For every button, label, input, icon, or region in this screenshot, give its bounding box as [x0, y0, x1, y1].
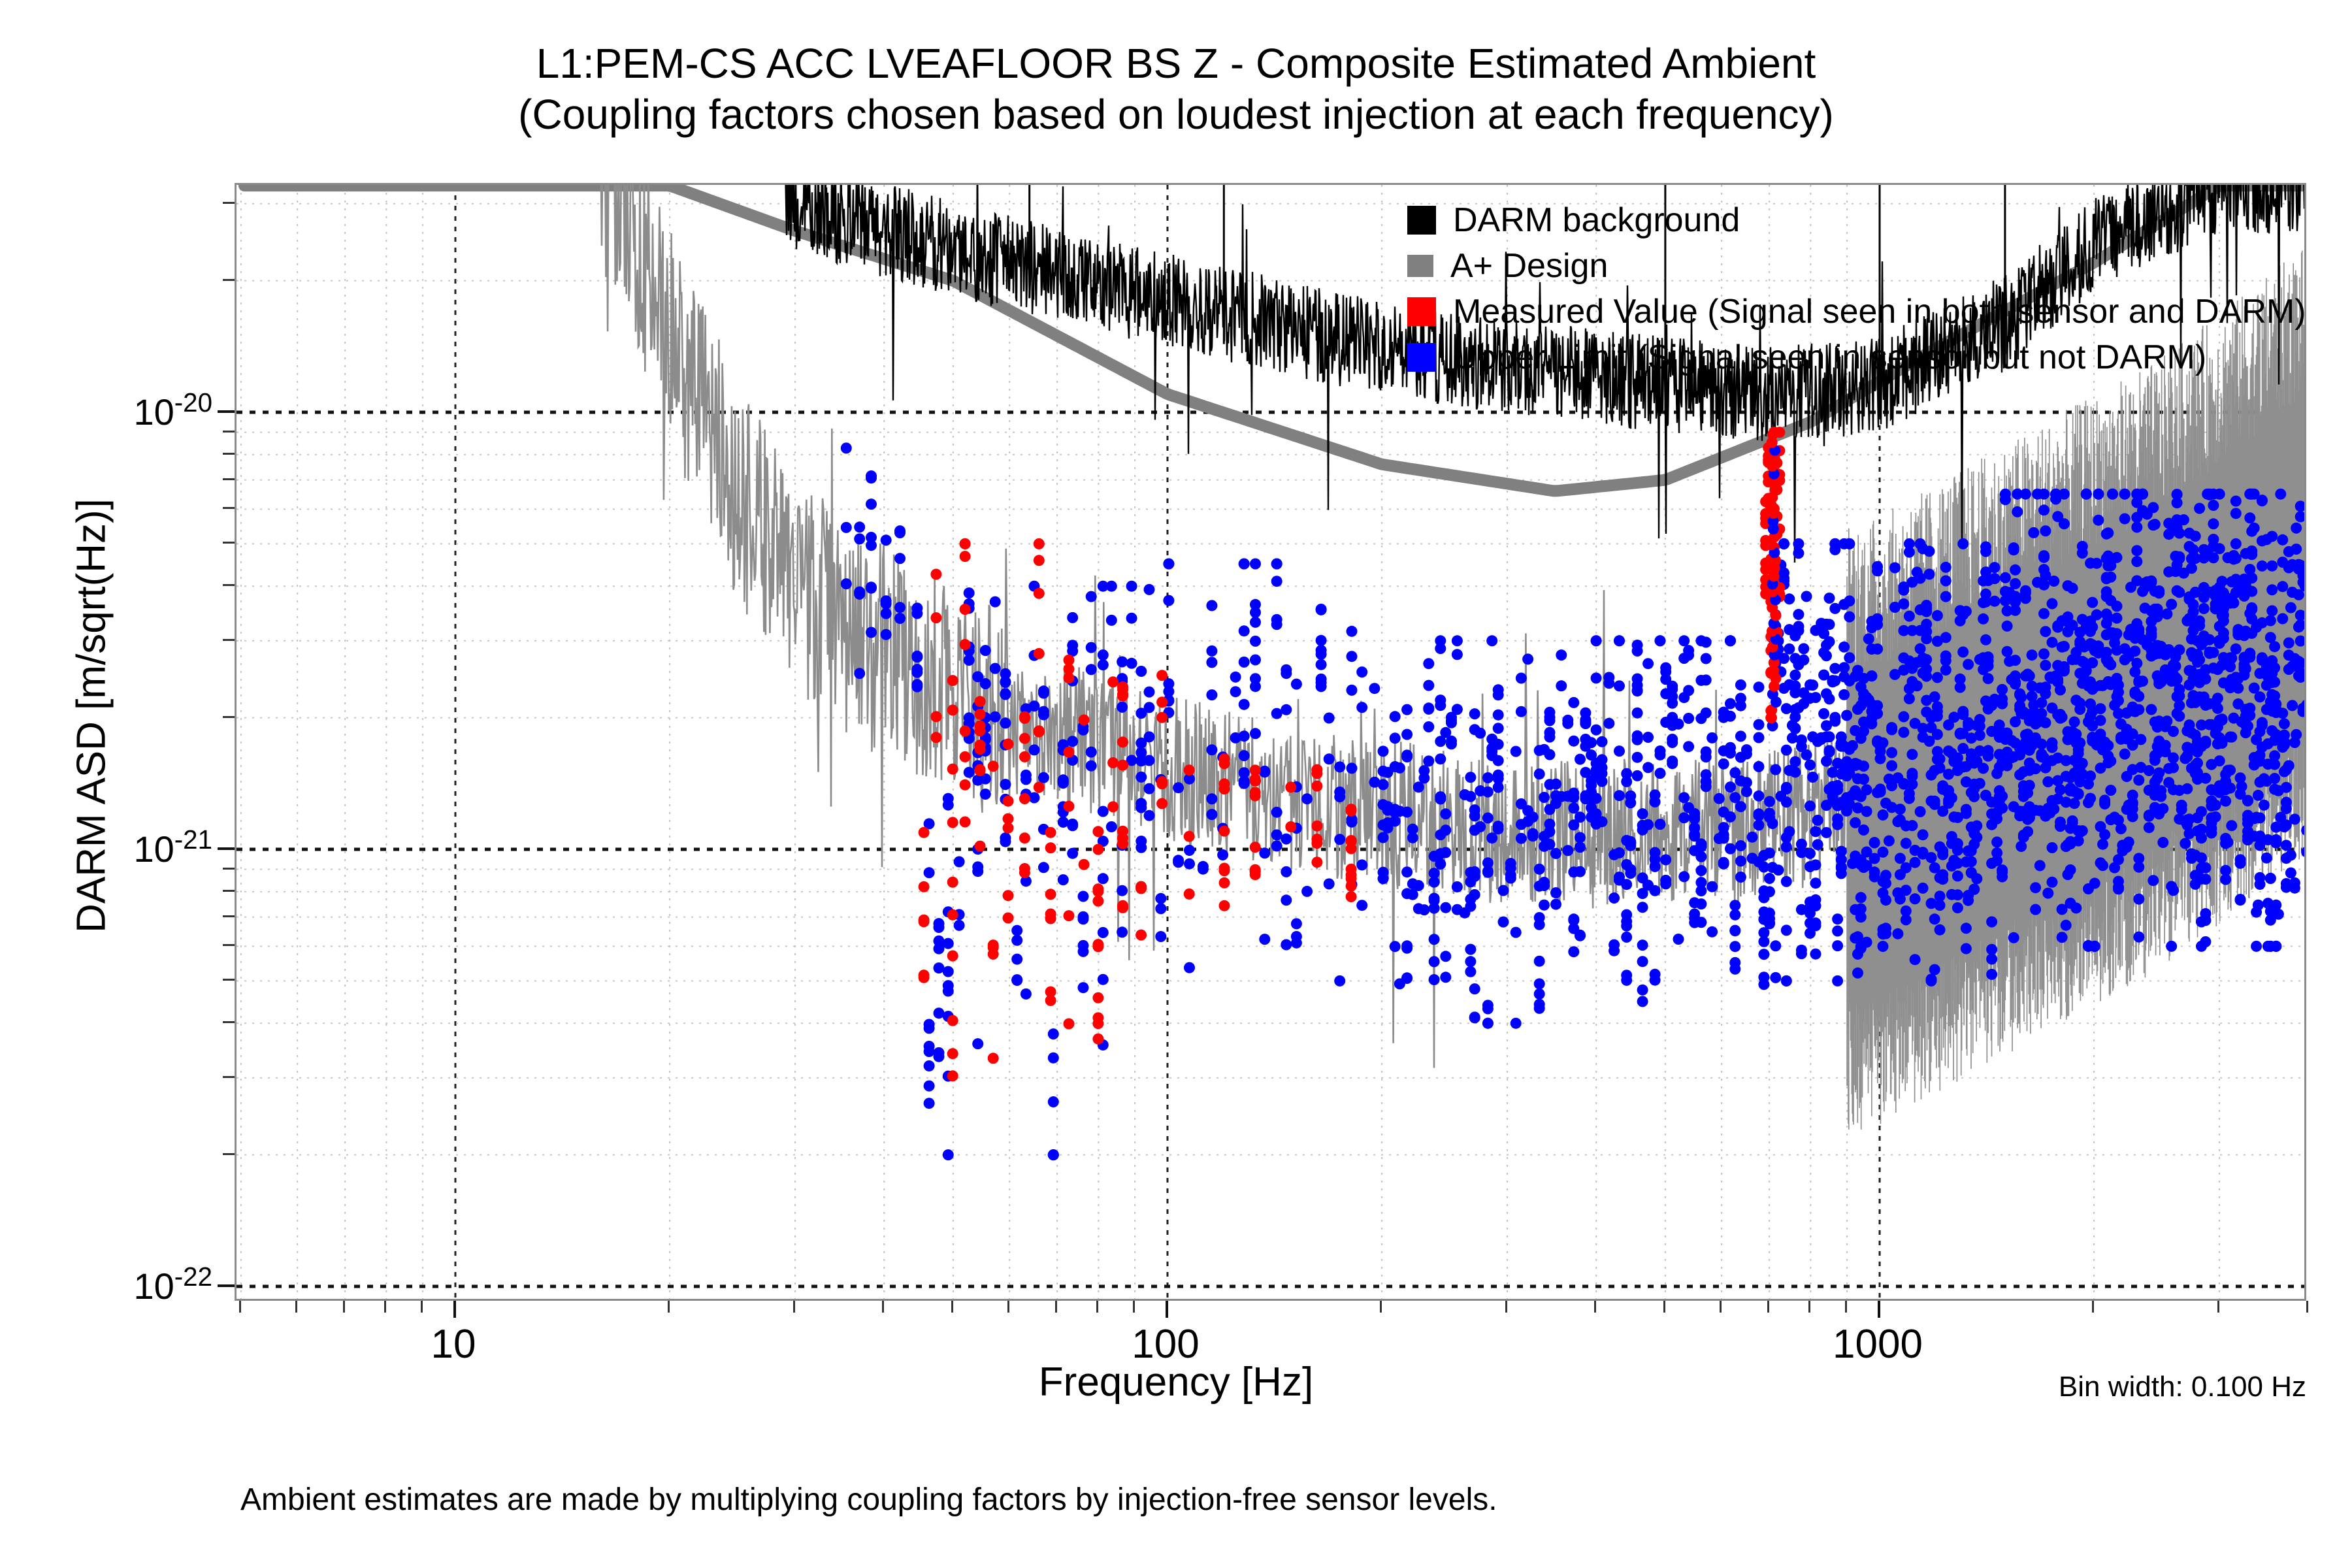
y-axis-title: DARM ASD [m/sqrt(Hz)]: [69, 259, 115, 1173]
y-tick-minor: [223, 915, 235, 917]
y-tick-minor: [223, 1021, 235, 1023]
x-tick-minor: [1663, 1301, 1665, 1313]
x-tick-minor: [1505, 1301, 1507, 1313]
x-tick-major: [453, 1301, 456, 1318]
x-tick-minor: [1133, 1301, 1135, 1313]
x-axis-title: Frequency [Hz]: [0, 1359, 2352, 1405]
y-tick-minor: [223, 584, 235, 586]
chart-title-primary: L1:PEM-CS ACC LVEAFLOOR BS Z - Composite…: [0, 38, 2352, 89]
legend-swatch-icon: [1407, 343, 1436, 372]
x-tick-minor: [1845, 1301, 1847, 1313]
x-tick-minor: [1808, 1301, 1810, 1313]
legend-item-label: A+ Design: [1450, 249, 1608, 283]
x-tick-minor: [295, 1301, 297, 1313]
legend-item-2: Measured Value (Signal seen in both sens…: [1407, 289, 2306, 335]
legend-swatch-icon: [1407, 297, 1436, 326]
x-tick-minor: [343, 1301, 345, 1313]
legend-item-3: Upper Limit (Signal seen in sensor but n…: [1407, 335, 2306, 380]
y-tick-minor: [223, 944, 235, 946]
chart-title-secondary: (Coupling factors chosen based on loudes…: [0, 89, 2352, 140]
x-tick-major: [1878, 1301, 1880, 1318]
chart-title-block: L1:PEM-CS ACC LVEAFLOOR BS Z - Composite…: [0, 38, 2352, 140]
legend-swatch-icon: [1407, 206, 1436, 235]
y-tick-minor: [223, 716, 235, 718]
x-tick-minor: [1720, 1301, 1722, 1313]
legend-item-label: DARM background: [1453, 203, 1740, 237]
y-tick-major: [218, 847, 235, 850]
y-tick-minor: [223, 478, 235, 480]
x-tick-minor: [421, 1301, 423, 1313]
legend-item-label: Measured Value (Signal seen in both sens…: [1453, 295, 2306, 329]
x-tick-minor: [1380, 1301, 1382, 1313]
y-tick-minor: [223, 431, 235, 433]
x-tick-minor: [239, 1301, 241, 1313]
y-tick-minor: [223, 979, 235, 981]
y-tick-label-2: 10-22: [133, 1262, 212, 1307]
x-tick-minor: [1096, 1301, 1098, 1313]
y-tick-minor: [223, 542, 235, 544]
y-tick-minor: [223, 868, 235, 870]
y-tick-label-1: 10-21: [133, 825, 212, 870]
x-tick-major: [1166, 1301, 1168, 1318]
y-tick-major: [218, 1284, 235, 1287]
y-tick-minor: [223, 639, 235, 641]
y-tick-minor: [223, 279, 235, 281]
legend-item-0: DARM background: [1407, 197, 2306, 243]
y-tick-major: [218, 410, 235, 413]
y-tick-minor: [223, 202, 235, 204]
x-tick-minor: [2306, 1301, 2308, 1313]
legend-item-label: Upper Limit (Signal seen in sensor but n…: [1453, 340, 2206, 374]
legend-swatch-icon: [1407, 255, 1433, 277]
bin-width-note: Bin width: 0.100 Hz: [2059, 1371, 2306, 1403]
y-tick-minor: [223, 890, 235, 892]
x-tick-minor: [668, 1301, 670, 1313]
x-tick-minor: [2217, 1301, 2219, 1313]
chart-footnote: Ambient estimates are made by multiplyin…: [240, 1482, 1497, 1518]
x-tick-minor: [1594, 1301, 1596, 1313]
scatter-upper-limit: [841, 442, 2306, 1160]
x-tick-minor: [793, 1301, 795, 1313]
chart-legend: DARM backgroundA+ DesignMeasured Value (…: [1398, 191, 2315, 389]
legend-item-1: A+ Design: [1407, 243, 2306, 289]
y-tick-label-0: 10-20: [133, 387, 212, 433]
y-tick-minor: [223, 1153, 235, 1155]
x-tick-minor: [1007, 1301, 1009, 1313]
x-tick-minor: [2092, 1301, 2094, 1313]
x-tick-minor: [882, 1301, 884, 1313]
y-tick-minor: [223, 507, 235, 509]
y-tick-minor: [223, 1076, 235, 1078]
x-tick-minor: [1767, 1301, 1769, 1313]
x-tick-minor: [384, 1301, 386, 1313]
y-tick-minor: [223, 453, 235, 455]
x-tick-minor: [951, 1301, 953, 1313]
x-tick-minor: [1055, 1301, 1057, 1313]
